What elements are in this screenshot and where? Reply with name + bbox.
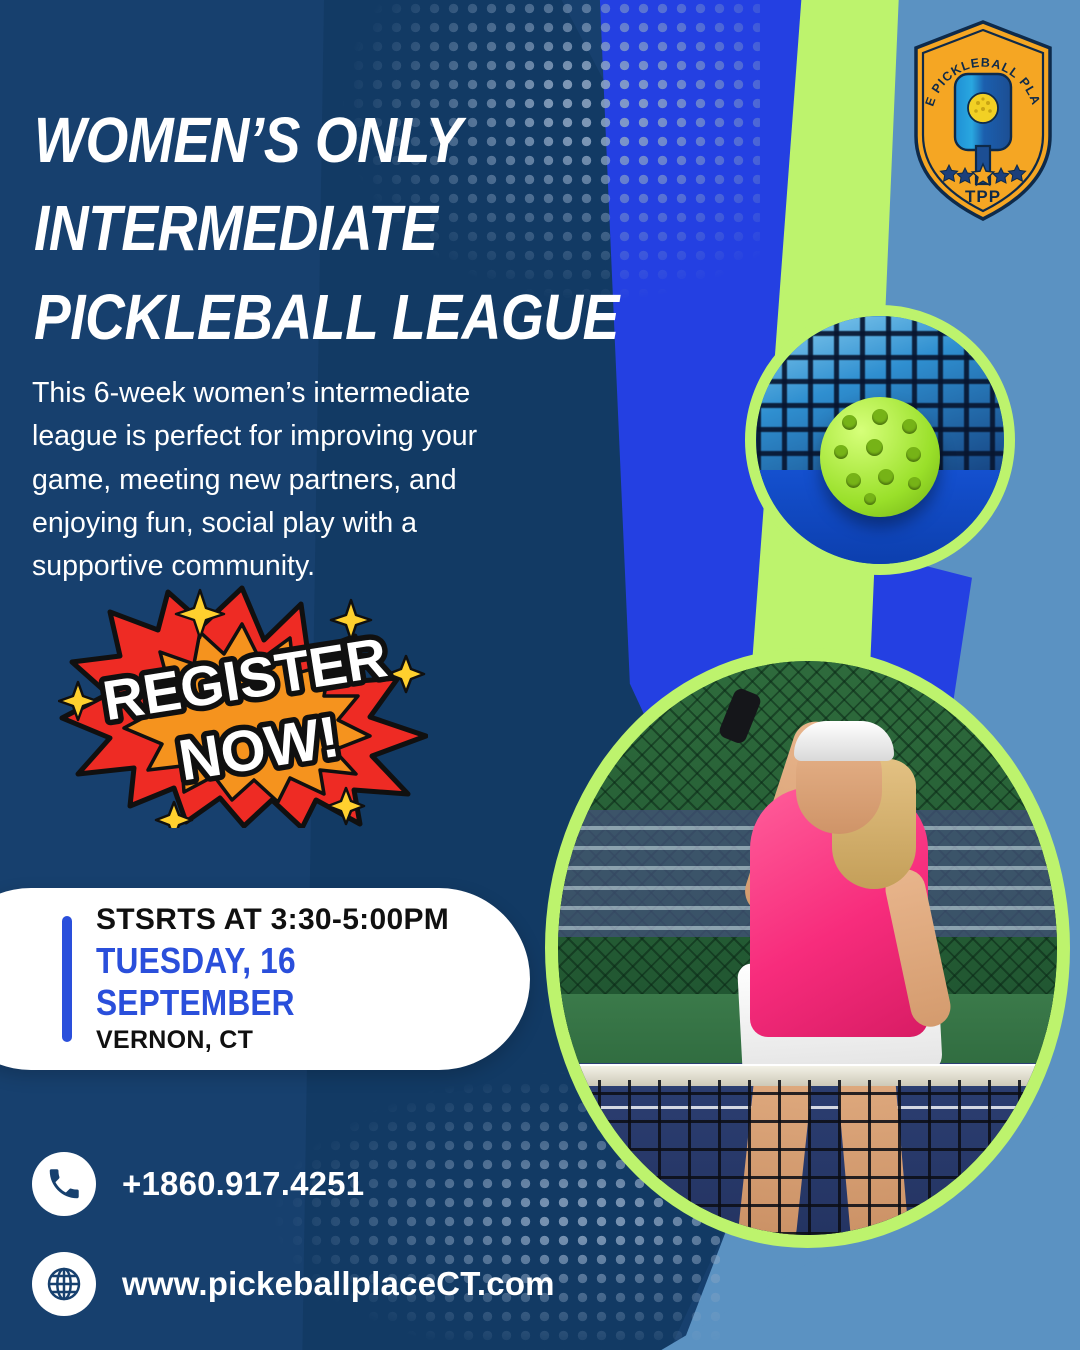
event-time: STSRTS AT 3:30-5:00PM	[96, 903, 530, 937]
contact-phone[interactable]: +1860.917.4251	[32, 1152, 364, 1216]
website-url: www.pickeballplaceCT.com	[122, 1265, 555, 1303]
phone-icon	[32, 1152, 96, 1216]
page-title: WOMEN’S ONLY INTERMEDIATE PICKLEBALL LEA…	[34, 96, 713, 361]
accent-bar	[62, 916, 72, 1042]
event-date: TUESDAY, 16 SEPTEMBER	[96, 940, 478, 1024]
contact-website[interactable]: www.pickeballplaceCT.com	[32, 1252, 555, 1316]
register-now-badge[interactable]: REGISTER REGISTER NOW! NOW!	[58, 578, 428, 828]
event-location: VERNON, CT	[96, 1026, 530, 1055]
globe-icon	[32, 1252, 96, 1316]
logo-monogram: TPP	[965, 187, 1001, 206]
brand-logo: THE PICKLEBALL PLACE TPP	[908, 18, 1058, 223]
poster-canvas: THE PICKLEBALL PLACE TPP WOMEN’S ONLY IN…	[0, 0, 1080, 1350]
player-photo	[545, 648, 1070, 1248]
phone-number: +1860.917.4251	[122, 1165, 364, 1203]
pickleball-photo	[745, 305, 1015, 575]
event-details-card: STSRTS AT 3:30-5:00PM TUESDAY, 16 SEPTEM…	[0, 888, 530, 1070]
description-text: This 6-week women’s intermediate league …	[32, 372, 552, 589]
